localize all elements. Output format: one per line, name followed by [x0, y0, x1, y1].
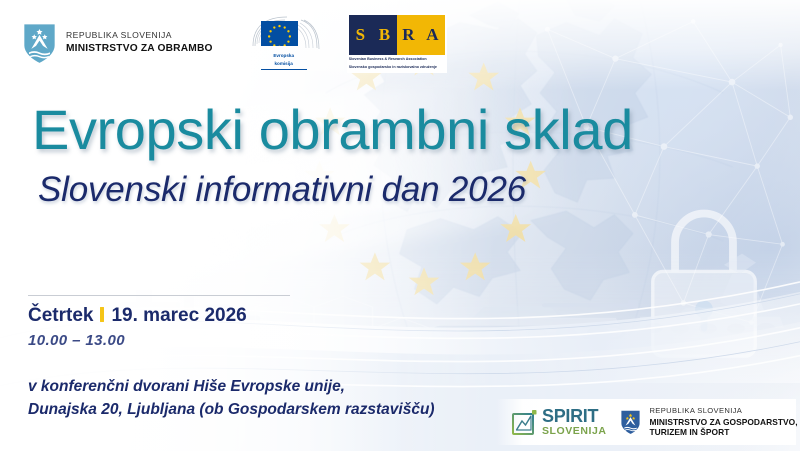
title-block: Evropski obrambni sklad Slovenski inform… [32, 103, 633, 209]
spirit-wordmark: SPIRIT [542, 407, 606, 425]
venue-line1: v konferenčni dvorani Hiše Evropske unij… [28, 375, 435, 398]
sbra-letter-b: B [373, 15, 397, 55]
mod-line2: MINISTRSTVO ZA OBRAMBO [66, 43, 213, 54]
venue-line2: Dunajska 20, Ljubljana (ob Gospodarskem … [28, 398, 435, 421]
date-block: Četrtek 19. marec 2026 10.00 – 13.00 [28, 305, 247, 349]
sbra-caption-sl: Slovensko gospodarsko in raziskovalno zd… [349, 65, 445, 71]
mgts-line1: REPUBLIKA SLOVENIJA [649, 406, 797, 415]
ec-underline [261, 69, 307, 70]
sbra-letter-s: S [349, 15, 373, 55]
slovenia-coat-of-arms-icon [22, 22, 57, 64]
poster-root: REPUBLIKA SLOVENIJA MINISTRSTVO ZA OBRAM… [0, 0, 800, 451]
poster-subtitle: Slovenski informativni dan 2026 [38, 172, 633, 209]
event-date: 19. marec 2026 [111, 305, 246, 327]
logo-ministry-of-defence: REPUBLIKA SLOVENIJA MINISTRSTVO ZA OBRAM… [22, 22, 213, 64]
spirit-mountain-chart-icon [512, 409, 538, 435]
logo-ministry-of-economy: REPUBLIKA SLOVENIJA MINISTRSTVO ZA GOSPO… [620, 406, 797, 437]
poster-title: Evropski obrambni sklad [32, 103, 633, 158]
date-separator-bar [100, 307, 104, 322]
event-time-range: 10.00 – 13.00 [28, 332, 247, 349]
section-divider [28, 295, 290, 296]
ec-caption-line1: Evropska [247, 53, 321, 59]
eu-flag-icon [261, 21, 298, 46]
logo-european-commission: Evropska komisija [247, 16, 321, 69]
spirit-country: SLOVENIJA [542, 426, 606, 437]
mgts-line2: MINISTRSTVO ZA GOSPODARSTVO, [649, 417, 797, 427]
sbra-caption-en: Slovenian Business & Research Associatio… [349, 57, 445, 63]
event-weekday: Četrtek [28, 305, 93, 327]
slovenia-coat-of-arms-small-icon [620, 409, 641, 435]
ec-caption-line2: komisija [247, 61, 321, 67]
logo-sbra: S B R A Slovenian Business & Research As… [347, 13, 447, 72]
sbra-letter-r: R [397, 15, 421, 55]
logo-spirit-slovenija: SPIRIT SLOVENIJA [512, 407, 606, 437]
mod-line1: REPUBLIKA SLOVENIJA [66, 31, 213, 41]
mgts-line3: TURIZEM IN ŠPORT [649, 427, 797, 437]
sbra-letter-a: A [421, 15, 445, 55]
venue-block: v konferenčni dvorani Hiše Evropske unij… [28, 375, 435, 422]
header-logo-row: REPUBLIKA SLOVENIJA MINISTRSTVO ZA OBRAM… [0, 0, 800, 86]
footer-logo-band: SPIRIT SLOVENIJA [496, 399, 796, 445]
